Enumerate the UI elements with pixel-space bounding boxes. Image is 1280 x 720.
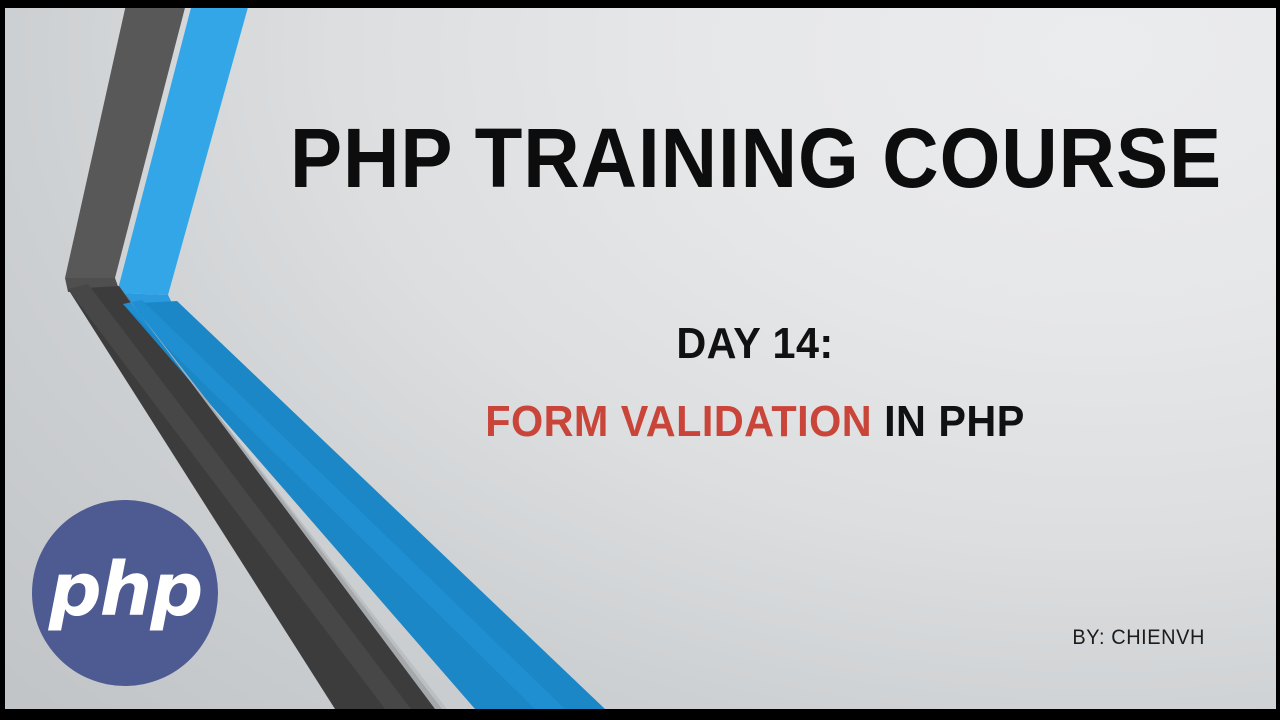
slide-credit-author: BY: CHIENVH (920, 626, 1205, 650)
letterbox-top-bar (0, 0, 1280, 8)
php-logo: php (32, 500, 218, 686)
slide-canvas: php PHP TRAINING COURSE DAY 14: FORM VAL… (5, 8, 1276, 709)
slide-subtitle-day: DAY 14: (285, 321, 1225, 367)
php-logo-wordmark: php (49, 553, 202, 627)
letterbox-bottom-bar (0, 709, 1280, 720)
letterbox-left-bar (0, 0, 5, 720)
slide-subtitle-topic: FORM VALIDATION IN PHP (285, 399, 1225, 445)
presentation-slide: php PHP TRAINING COURSE DAY 14: FORM VAL… (0, 0, 1280, 720)
slide-subtitle-topic-rest: IN PHP (872, 397, 1025, 446)
page-title: PHP TRAINING COURSE (290, 116, 1220, 202)
slide-subtitle-topic-accent: FORM VALIDATION (485, 397, 872, 446)
letterbox-right-bar (1276, 0, 1280, 720)
